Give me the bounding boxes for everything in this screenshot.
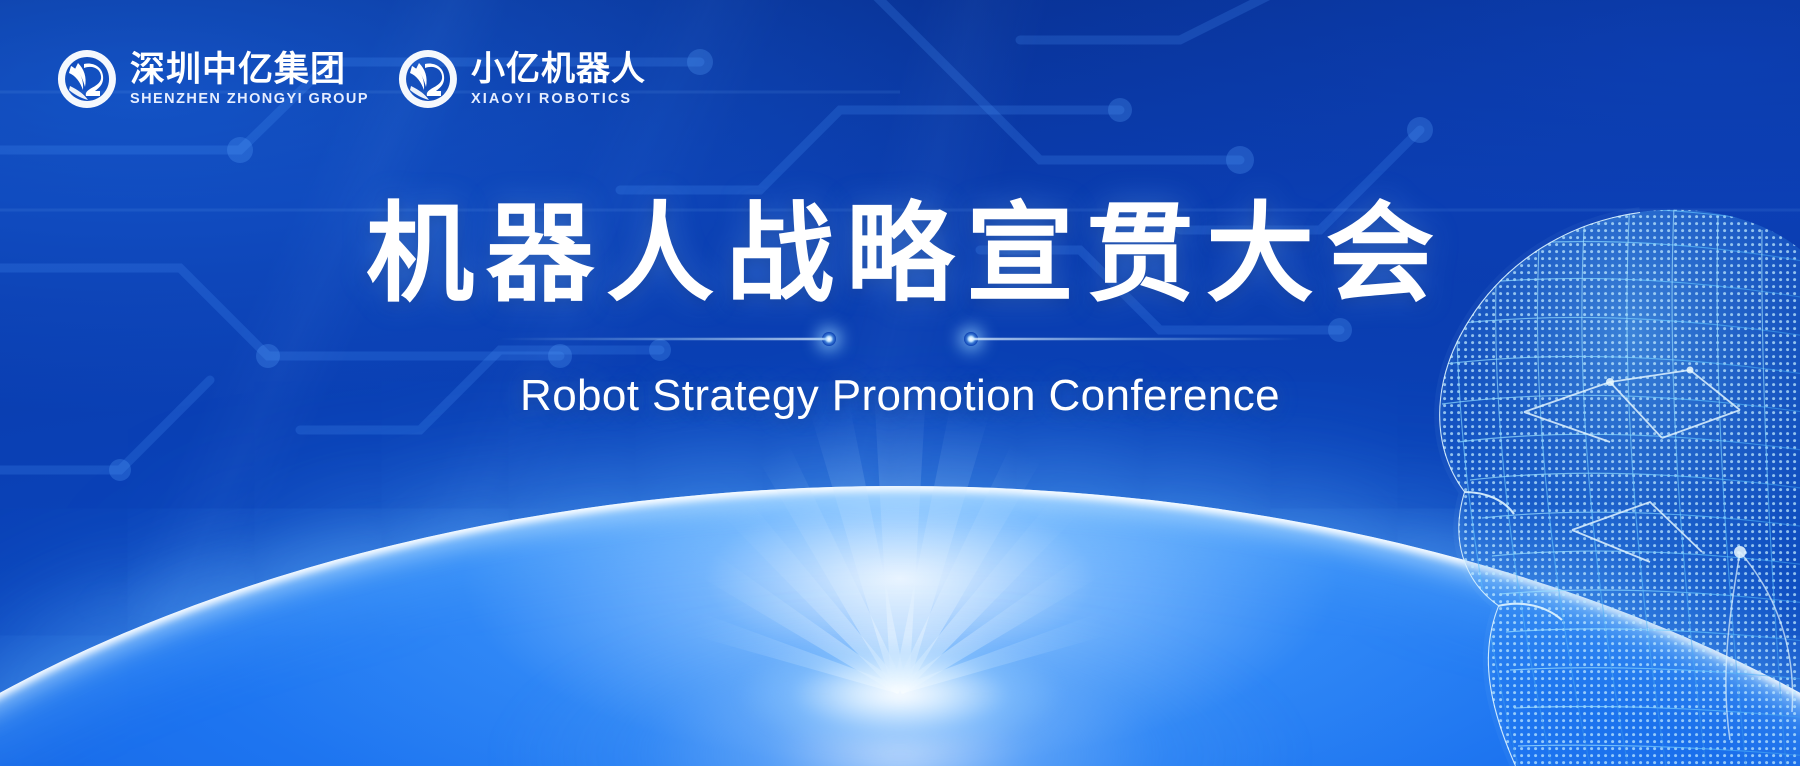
logo-zhongyi-name-en: SHENZHEN ZHONGYI GROUP [130, 91, 369, 107]
logo-xiaoyi-name-cn: 小亿机器人 [471, 51, 646, 87]
conference-banner: 深圳中亿集团 SHENZHEN ZHONGYI GROUP 小亿机器人 XIAO… [0, 0, 1800, 766]
zhongyi-emblem-icon [54, 46, 120, 112]
logo-xiaoyi[interactable]: 小亿机器人 XIAOYI ROBOTICS [395, 46, 646, 112]
logo-zhongyi[interactable]: 深圳中亿集团 SHENZHEN ZHONGYI GROUP [54, 46, 369, 112]
logo-group: 深圳中亿集团 SHENZHEN ZHONGYI GROUP 小亿机器人 XIAO… [54, 46, 646, 112]
earth-horizon [0, 346, 1800, 766]
logo-zhongyi-name-cn: 深圳中亿集团 [130, 51, 369, 88]
xiaoyi-emblem-icon [395, 46, 461, 112]
logo-xiaoyi-name-en: XIAOYI ROBOTICS [471, 91, 646, 107]
